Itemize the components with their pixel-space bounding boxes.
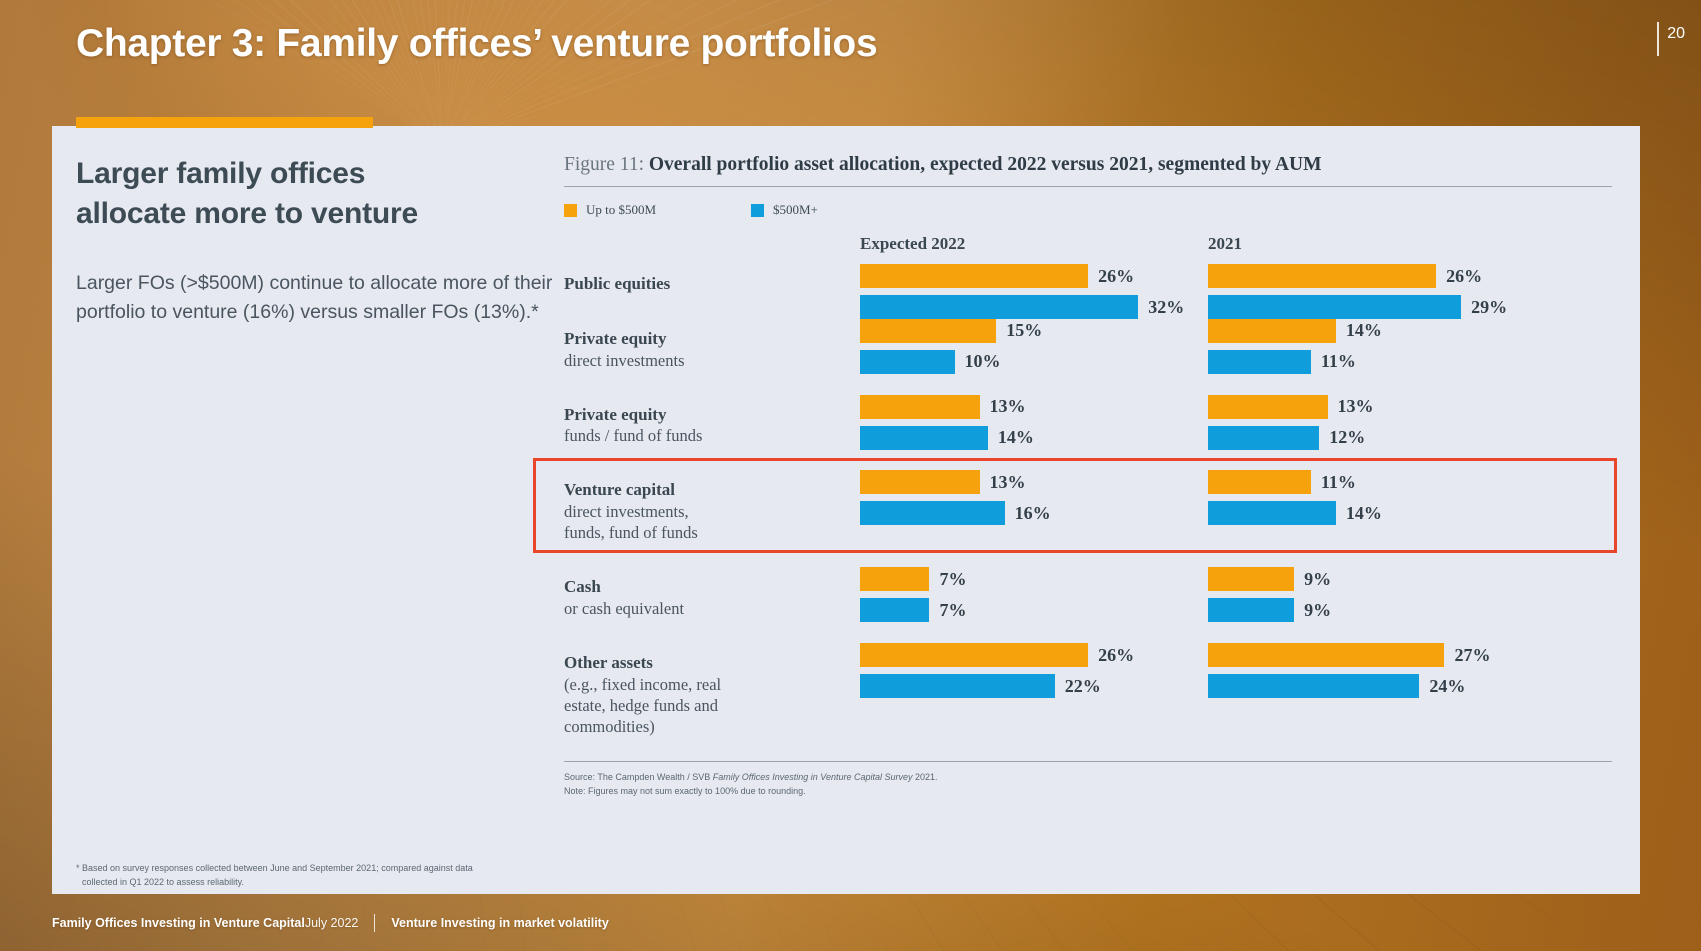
bar-line-up-to-500m: 13%	[860, 470, 1051, 494]
bar-over-500m	[1208, 674, 1419, 698]
legend-item-over-500m: $500M+	[751, 202, 818, 218]
row-bar-groups: 13%16%11%14%	[822, 470, 1612, 543]
row-label: Public equities	[564, 264, 822, 295]
bar-line-over-500m: 32%	[860, 295, 1184, 319]
row-label: Venture capitaldirect investments,funds,…	[564, 470, 822, 543]
content-card: Larger family offices allocate more to v…	[52, 126, 1640, 894]
left-panel: Larger family offices allocate more to v…	[76, 154, 576, 327]
bar-line-over-500m: 10%	[860, 350, 1042, 374]
footer-date: July 2022	[305, 916, 359, 930]
bar-up-to-500m	[860, 319, 996, 343]
row-bar-groups: 26%22%27%24%	[822, 643, 1612, 737]
bar-group-2021: 13%12%	[1208, 395, 1374, 457]
legend-label-over-500m: $500M+	[773, 202, 818, 218]
bar-value-over-500m: 32%	[1148, 297, 1184, 318]
bar-over-500m	[1208, 295, 1461, 319]
bar-line-up-to-500m: 9%	[1208, 567, 1331, 591]
page-number-group: 20	[1657, 22, 1685, 56]
bar-group-expected-2022: 13%14%	[860, 395, 1034, 457]
row-label-title: Venture capital	[564, 479, 822, 501]
left-panel-heading-line1: Larger family offices	[76, 154, 576, 194]
bar-up-to-500m	[1208, 643, 1444, 667]
bar-line-over-500m: 12%	[1208, 426, 1374, 450]
bar-line-up-to-500m: 15%	[860, 319, 1042, 343]
figure-label: Figure 11:	[564, 154, 644, 175]
chart-column-headers: Expected 2022 2021	[564, 234, 1612, 264]
bar-group-2021: 11%14%	[1208, 470, 1382, 532]
bar-value-over-500m: 24%	[1429, 676, 1465, 697]
bar-up-to-500m	[860, 264, 1088, 288]
bar-value-up-to-500m: 27%	[1454, 645, 1490, 666]
bar-value-over-500m: 11%	[1321, 351, 1356, 372]
bar-group-expected-2022: 7%7%	[860, 567, 966, 629]
bar-group-expected-2022: 26%22%	[860, 643, 1134, 705]
figure-source-line2: Note: Figures may not sum exactly to 100…	[564, 785, 1612, 799]
bar-over-500m	[860, 674, 1055, 698]
bar-group-2021: 27%24%	[1208, 643, 1490, 705]
bar-value-up-to-500m: 26%	[1098, 266, 1134, 287]
legend-item-up-to-500m: Up to $500M	[564, 202, 751, 218]
footer-report-name: Family Offices Investing in Venture Capi…	[52, 916, 305, 930]
bar-up-to-500m	[1208, 567, 1294, 591]
figure-title-rule	[564, 186, 1612, 187]
bar-value-up-to-500m: 26%	[1446, 266, 1482, 287]
footnote-line2: collected in Q1 2022 to assess reliabili…	[76, 876, 546, 890]
legend-swatch-blue	[751, 204, 764, 217]
bar-line-up-to-500m: 27%	[1208, 643, 1490, 667]
figure-source: Source: The Campden Wealth / SVB Family …	[564, 771, 1612, 799]
source-prefix: Source: The Campden Wealth / SVB	[564, 772, 713, 782]
row-bar-groups: 15%10%14%11%	[822, 319, 1612, 371]
footnote-line1: * Based on survey responses collected be…	[76, 863, 473, 873]
bar-group-expected-2022: 15%10%	[860, 319, 1042, 381]
row-bar-groups: 7%7%9%9%	[822, 567, 1612, 619]
bar-up-to-500m	[860, 470, 980, 494]
row-bar-groups: 13%14%13%12%	[822, 395, 1612, 447]
figure-bottom-rule	[564, 761, 1612, 762]
bar-value-up-to-500m: 14%	[1346, 320, 1382, 341]
bar-up-to-500m	[860, 395, 980, 419]
bar-line-over-500m: 29%	[1208, 295, 1507, 319]
left-panel-body: Larger FOs (>$500M) continue to allocate…	[76, 269, 576, 326]
bar-value-up-to-500m: 9%	[1304, 569, 1331, 590]
column-header-expected-2022: Expected 2022	[860, 234, 965, 254]
bar-line-up-to-500m: 14%	[1208, 319, 1382, 343]
page-footer: Family Offices Investing in Venture Capi…	[0, 894, 1701, 951]
bar-over-500m	[1208, 598, 1294, 622]
bar-line-up-to-500m: 13%	[860, 395, 1034, 419]
bar-group-2021: 26%29%	[1208, 264, 1507, 326]
bar-value-up-to-500m: 7%	[939, 569, 966, 590]
legend-label-up-to-500m: Up to $500M	[586, 202, 656, 218]
bar-line-up-to-500m: 26%	[1208, 264, 1507, 288]
bar-line-over-500m: 11%	[1208, 350, 1382, 374]
row-label: Private equitydirect investments	[564, 319, 822, 371]
bar-value-up-to-500m: 26%	[1098, 645, 1134, 666]
accent-tab	[76, 117, 373, 128]
bar-line-over-500m: 24%	[1208, 674, 1490, 698]
bar-group-expected-2022: 13%16%	[860, 470, 1051, 532]
page-number-rule	[1657, 22, 1659, 56]
bar-line-over-500m: 7%	[860, 598, 966, 622]
footer-section: Venture Investing in market volatility	[391, 916, 608, 930]
bar-line-up-to-500m: 11%	[1208, 470, 1382, 494]
bar-line-over-500m: 9%	[1208, 598, 1331, 622]
row-label-subtitle: commodities)	[564, 716, 822, 737]
row-label-title: Private equity	[564, 404, 822, 426]
bar-over-500m	[860, 350, 955, 374]
bar-value-over-500m: 16%	[1015, 503, 1051, 524]
chart-row: Public equities26%32%26%29%	[564, 264, 1612, 295]
row-label-subtitle: (e.g., fixed income, real	[564, 674, 822, 695]
figure-title: Figure 11: Overall portfolio asset alloc…	[564, 154, 1612, 176]
chapter-title: Chapter 3: Family offices’ venture portf…	[76, 22, 877, 66]
footer-text: Family Offices Investing in Venture Capi…	[52, 914, 609, 932]
chart-row: Cashor cash equivalent7%7%9%9%	[564, 567, 1612, 619]
bar-up-to-500m	[1208, 395, 1328, 419]
row-label-title: Private equity	[564, 328, 822, 350]
bar-value-over-500m: 29%	[1471, 297, 1507, 318]
row-label-subtitle: estate, hedge funds and	[564, 695, 822, 716]
bar-value-over-500m: 10%	[965, 351, 1001, 372]
bar-over-500m	[860, 598, 929, 622]
bar-value-over-500m: 7%	[939, 600, 966, 621]
bar-value-up-to-500m: 15%	[1006, 320, 1042, 341]
chart-row: Private equitydirect investments15%10%14…	[564, 319, 1612, 371]
row-label-subtitle: direct investments	[564, 350, 822, 371]
bar-line-up-to-500m: 26%	[860, 643, 1134, 667]
bar-value-over-500m: 14%	[1346, 503, 1382, 524]
bar-up-to-500m	[1208, 470, 1311, 494]
bar-up-to-500m	[1208, 264, 1436, 288]
bar-group-expected-2022: 26%32%	[860, 264, 1184, 326]
row-label-subtitle: funds / fund of funds	[564, 425, 822, 446]
bar-line-over-500m: 22%	[860, 674, 1134, 698]
chart-row: Other assets(e.g., fixed income, realest…	[564, 643, 1612, 737]
bar-value-up-to-500m: 13%	[990, 396, 1026, 417]
chart-row: Private equityfunds / fund of funds13%14…	[564, 395, 1612, 447]
left-panel-heading-line2: allocate more to venture	[76, 194, 576, 234]
legend-swatch-orange	[564, 204, 577, 217]
row-label-title: Public equities	[564, 273, 822, 295]
bar-value-over-500m: 9%	[1304, 600, 1331, 621]
bar-line-up-to-500m: 7%	[860, 567, 966, 591]
bar-line-up-to-500m: 13%	[1208, 395, 1374, 419]
bar-over-500m	[1208, 350, 1311, 374]
bar-value-up-to-500m: 13%	[1338, 396, 1374, 417]
row-label: Cashor cash equivalent	[564, 567, 822, 619]
row-label: Other assets(e.g., fixed income, realest…	[564, 643, 822, 737]
figure-block: Figure 11: Overall portfolio asset alloc…	[564, 154, 1612, 799]
row-label-title: Other assets	[564, 652, 822, 674]
bar-up-to-500m	[860, 643, 1088, 667]
bar-group-2021: 14%11%	[1208, 319, 1382, 381]
bar-line-over-500m: 14%	[1208, 501, 1382, 525]
bar-value-over-500m: 14%	[998, 427, 1034, 448]
left-panel-heading: Larger family offices allocate more to v…	[76, 154, 576, 234]
bar-over-500m	[860, 295, 1138, 319]
page-number: 20	[1667, 22, 1685, 46]
row-label: Private equityfunds / fund of funds	[564, 395, 822, 447]
chart-row: Venture capitaldirect investments,funds,…	[564, 470, 1612, 543]
bar-up-to-500m	[1208, 319, 1336, 343]
row-label-subtitle: direct investments,	[564, 501, 822, 522]
bar-over-500m	[860, 426, 988, 450]
row-label-title: Cash	[564, 576, 822, 598]
bar-line-up-to-500m: 26%	[860, 264, 1184, 288]
row-bar-groups: 26%32%26%29%	[822, 264, 1612, 295]
bar-value-up-to-500m: 11%	[1321, 472, 1356, 493]
figure-title-text: Overall portfolio asset allocation, expe…	[649, 154, 1322, 175]
figure-source-line1: Source: The Campden Wealth / SVB Family …	[564, 771, 1612, 785]
row-label-subtitle: or cash equivalent	[564, 598, 822, 619]
column-header-2021: 2021	[1208, 234, 1242, 254]
left-panel-footnote: * Based on survey responses collected be…	[76, 862, 546, 889]
bar-group-2021: 9%9%	[1208, 567, 1331, 629]
bar-value-over-500m: 12%	[1329, 427, 1365, 448]
bar-value-over-500m: 22%	[1065, 676, 1101, 697]
bar-line-over-500m: 14%	[860, 426, 1034, 450]
bar-up-to-500m	[860, 567, 929, 591]
bar-line-over-500m: 16%	[860, 501, 1051, 525]
source-suffix: 2021.	[913, 772, 938, 782]
bar-over-500m	[1208, 501, 1336, 525]
chart-legend: Up to $500M $500M+	[564, 202, 1612, 218]
bar-over-500m	[860, 501, 1005, 525]
bar-value-up-to-500m: 13%	[990, 472, 1026, 493]
row-label-subtitle: funds, fund of funds	[564, 522, 822, 543]
source-italic: Family Offices Investing in Venture Capi…	[713, 772, 913, 782]
bar-over-500m	[1208, 426, 1319, 450]
chart-rows: Public equities26%32%26%29%Private equit…	[564, 264, 1612, 737]
footer-divider	[374, 914, 375, 932]
